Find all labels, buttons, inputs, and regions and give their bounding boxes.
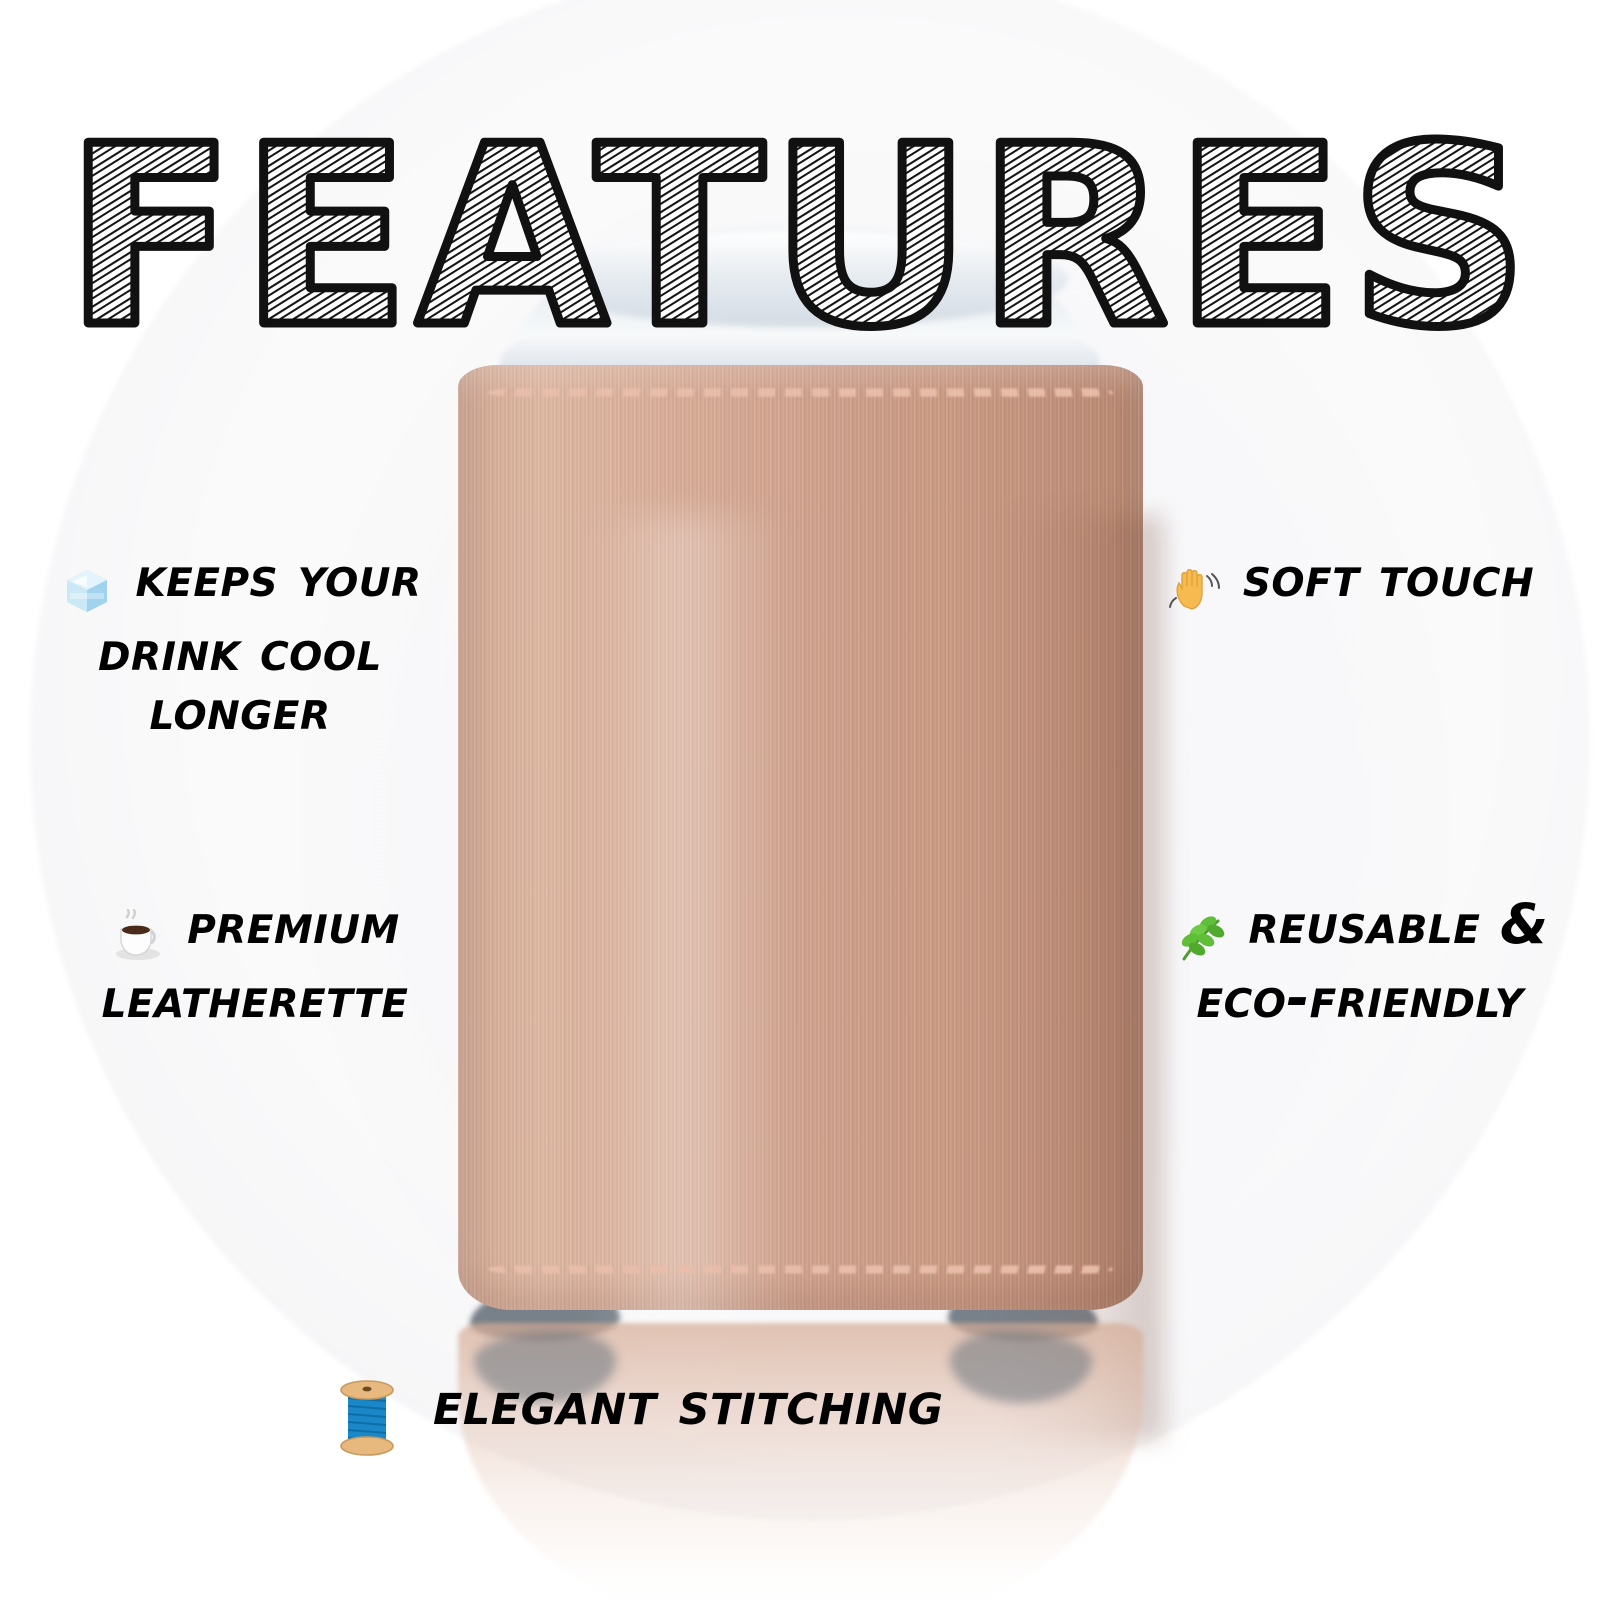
coffee-cup-icon xyxy=(110,909,166,969)
feature-label-elegant-stitching: Elegant Stitching xyxy=(433,1366,944,1439)
thread-spool-icon xyxy=(330,1376,404,1464)
product-image-can-cooler xyxy=(440,225,1160,1525)
title-sketch-svg: FEATURES xyxy=(0,118,1600,388)
stitching-top-edge xyxy=(487,388,1114,396)
ice-cube-icon xyxy=(59,562,115,622)
page-title: FEATURES xyxy=(0,118,1600,388)
sleeve-highlight xyxy=(588,515,798,1435)
feature-soft-touch: Soft Touch xyxy=(1140,548,1560,622)
feature-label-soft-touch: Soft Touch xyxy=(1243,545,1534,609)
feature-label-keeps-cool: Keeps Your Drink Cool longer xyxy=(98,545,421,742)
infographic-canvas: FEATURES Keeps Your Drink Cool longer xyxy=(0,0,1600,1600)
stitching-bottom-edge xyxy=(487,1265,1114,1273)
feature-label-reusable-eco: Reusable & Eco-Friendly xyxy=(1196,892,1548,1030)
feature-elegant-stitching: Elegant Stitching xyxy=(330,1370,1280,1464)
feature-keeps-cool: Keeps Your Drink Cool longer xyxy=(10,548,470,741)
herb-leaf-icon xyxy=(1172,909,1228,969)
leatherette-sleeve xyxy=(458,365,1143,1310)
feature-reusable-eco: Reusable & Eco-Friendly xyxy=(1130,895,1590,1028)
waving-hand-icon xyxy=(1166,562,1222,622)
feature-premium-leatherette: Premium Leatherette xyxy=(30,895,480,1028)
title-label: FEATURES xyxy=(65,118,1534,382)
